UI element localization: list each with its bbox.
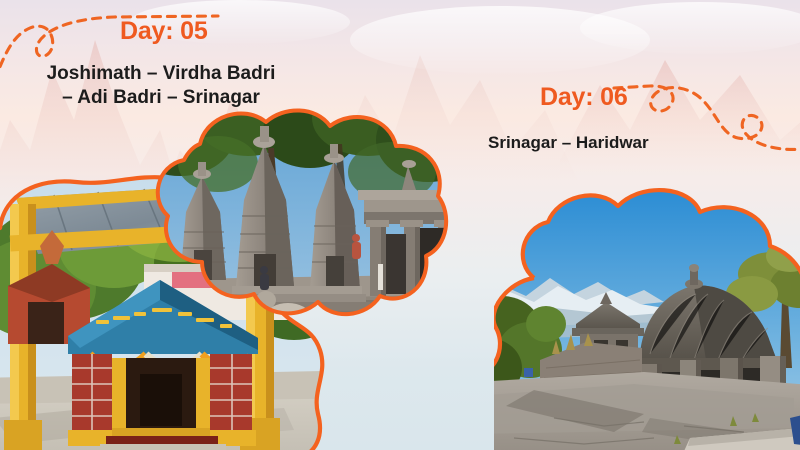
day-06-route-text: Srinagar – Haridwar: [488, 132, 649, 154]
day-05-label: Day: 05: [120, 17, 208, 46]
adi-badri-temple-complex-photo: [140, 104, 455, 349]
hilltop-stone-temple-photo: [494, 182, 800, 450]
day-06-label: Day: 06: [540, 83, 628, 112]
itinerary-slide: Day: 05 Joshimath – Virdha Badri – Adi B…: [0, 0, 800, 450]
